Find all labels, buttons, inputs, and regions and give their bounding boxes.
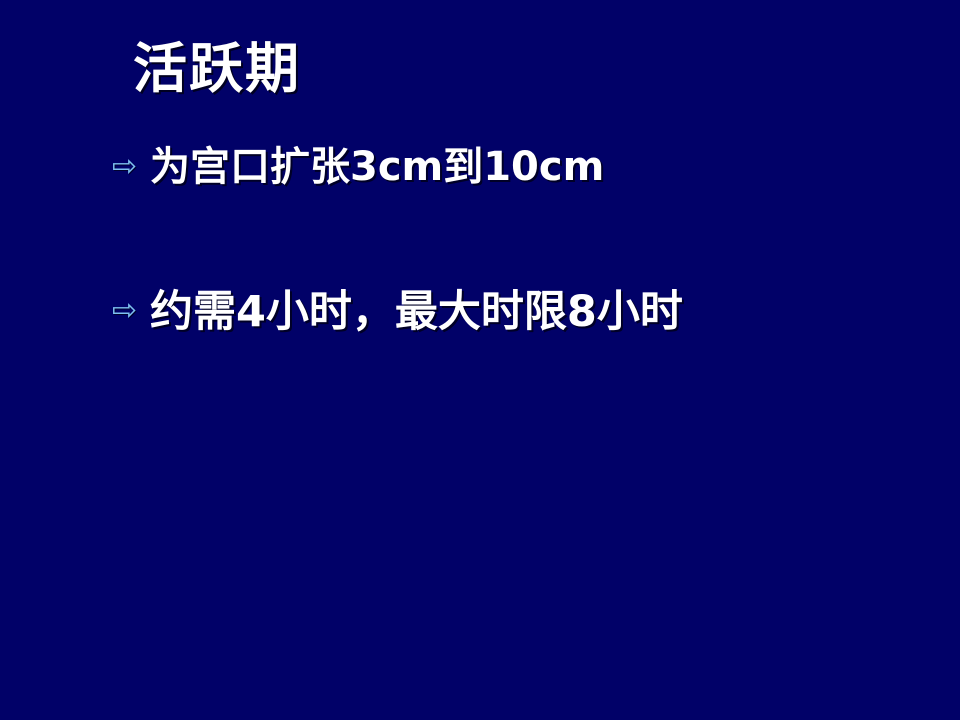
list-item-label: 为宫口扩张3cm到10cm	[150, 143, 912, 191]
list-item: ⇨ 为宫口扩张3cm到10cm	[112, 143, 912, 191]
list-item: ⇨ 约需4小时，最大时限8小时	[112, 287, 912, 337]
hollow-right-arrow-icon: ⇨	[112, 287, 150, 335]
list-item-label: 约需4小时，最大时限8小时	[150, 287, 912, 337]
hollow-right-arrow-icon: ⇨	[112, 143, 150, 191]
page-title: 活跃期	[133, 38, 833, 100]
presentation-slide: 活跃期 ⇨ 为宫口扩张3cm到10cm ⇨ 约需4小时，最大时限8小时	[0, 0, 960, 720]
bullet-list: ⇨ 为宫口扩张3cm到10cm ⇨ 约需4小时，最大时限8小时	[112, 143, 912, 337]
